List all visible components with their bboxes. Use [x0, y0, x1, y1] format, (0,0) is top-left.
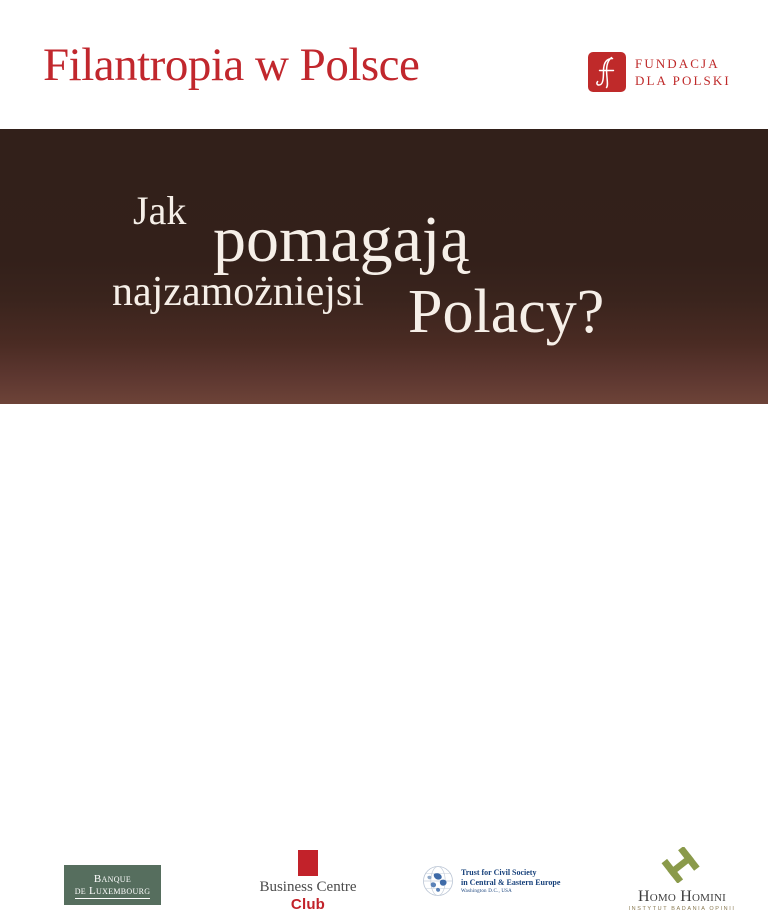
banque-line-1: Banque: [94, 873, 131, 885]
headline-word-jak: Jak: [133, 189, 186, 233]
bcc-line-2: Club: [252, 896, 364, 913]
homo-homini-mark-icon: [661, 847, 703, 883]
fundacja-line-1: FUNDACJA: [635, 57, 731, 71]
homo-homini-line-2: INSTYTUT BADANIA OPINII: [622, 905, 742, 914]
headline-block: Jak pomagają najzamożniejsi Polacy?: [0, 129, 768, 404]
headline-word-najzamozniejsi: najzamożniejsi: [112, 268, 364, 316]
hero-band: Jak pomagają najzamożniejsi Polacy?: [0, 129, 768, 404]
headline-word-polacy: Polacy?: [408, 277, 604, 347]
fundacja-wordmark: FUNDACJA DLA POLSKI: [635, 57, 731, 88]
trust-line-1: Trust for Civil Society: [461, 868, 560, 877]
page-header: Filantropia w Polsce FUNDACJA DLA POLSKI: [0, 0, 768, 129]
trust-line-2: in Central & Eastern Europe: [461, 878, 560, 887]
trust-wordmark: Trust for Civil Society in Central & Eas…: [461, 868, 560, 895]
headline-word-pomagaja: pomagają: [213, 203, 470, 277]
partner-logo-trust-for-civil-society: Trust for Civil Society in Central & Eas…: [420, 861, 565, 901]
homo-homini-line-1: Homo Homini: [622, 888, 742, 905]
partner-logo-bar: Banque de Luxembourg Business Centre Clu…: [0, 404, 768, 543]
trust-line-3: Washington D.C., USA: [461, 888, 560, 895]
partner-logo-banque-de-luxembourg: Banque de Luxembourg: [64, 865, 161, 905]
bcc-red-block-icon: [298, 850, 318, 876]
fundacja-mark-icon: [588, 52, 626, 92]
fundacja-line-2: DLA POLSKI: [635, 74, 731, 88]
bcc-line-1: Business Centre: [252, 879, 364, 896]
fundacja-dla-polski-logo: FUNDACJA DLA POLSKI: [588, 50, 740, 94]
page-title: Filantropia w Polsce: [43, 37, 419, 93]
banque-line-2: de Luxembourg: [75, 885, 151, 899]
partner-logo-homo-homini: Homo Homini INSTYTUT BADANIA OPINII: [622, 847, 742, 905]
partner-logo-business-centre-club: Business Centre Club: [252, 850, 364, 910]
globe-icon: [420, 863, 456, 899]
